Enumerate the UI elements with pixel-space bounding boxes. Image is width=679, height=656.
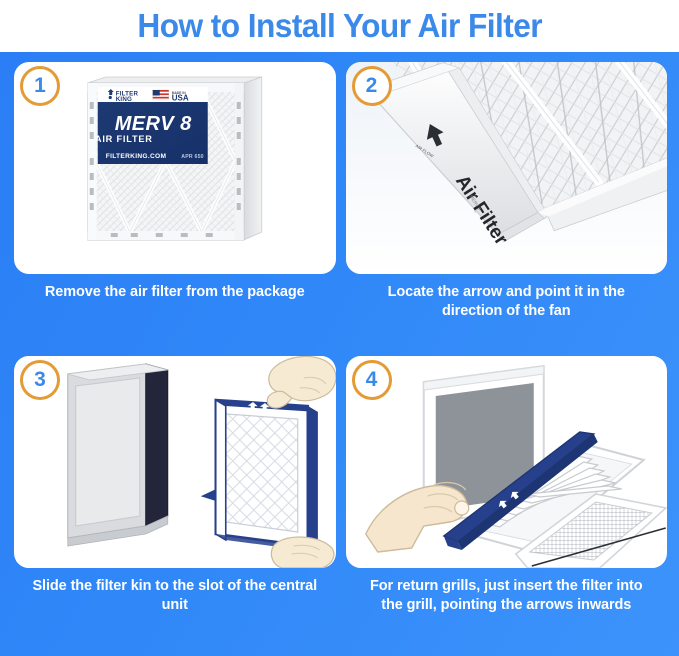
step-caption-4: For return grills, just insert the filte… — [346, 568, 668, 616]
svg-text:FILTERKING.COM: FILTERKING.COM — [106, 153, 167, 160]
step-1-image-card: FILTER KING MADE IN USA — [14, 62, 336, 274]
return-grill-insert-illustration — [346, 356, 668, 568]
filter-sliding-into-slot-illustration — [14, 356, 336, 568]
step-caption-2: Locate the arrow and point it in the dir… — [346, 274, 668, 322]
step-3-image-card: 3 — [14, 356, 336, 568]
central-unit-slot — [68, 364, 168, 546]
step-caption-1: Remove the air filter from the package — [33, 274, 317, 302]
svg-text:MERV 8: MERV 8 — [115, 113, 192, 135]
svg-text:APR 650: APR 650 — [181, 154, 203, 160]
step-number-badge-3: 3 — [20, 360, 60, 400]
step-4-image-card: 4 — [346, 356, 668, 568]
svg-text:AIR FILTER: AIR FILTER — [95, 134, 153, 144]
svg-text:USA: USA — [172, 94, 189, 103]
air-filter-product-photo: FILTER KING MADE IN USA — [14, 62, 336, 274]
step-card-4: 4 For return grills, just insert the fil… — [346, 356, 668, 650]
new-air-filter — [216, 400, 318, 552]
step-caption-3: Slide the filter kin to the slot of the … — [14, 568, 336, 616]
step-number-badge-4: 4 — [352, 360, 392, 400]
step-2-image-card: AIR FLOW Air Filter MERV 8 2 — [346, 62, 668, 274]
svg-text:KING: KING — [116, 96, 132, 103]
infographic-page: How to Install Your Air Filter — [0, 0, 679, 656]
step-number-badge-2: 2 — [352, 66, 392, 106]
air-filter-corner-with-arrow: AIR FLOW Air Filter MERV 8 — [346, 62, 668, 274]
header-bar: How to Install Your Air Filter — [0, 0, 679, 52]
step-number-badge-1: 1 — [20, 66, 60, 106]
step-card-3: 3 Slide the filter kin to the slot of th… — [14, 356, 336, 650]
step-card-1: FILTER KING MADE IN USA — [14, 62, 336, 356]
steps-grid: FILTER KING MADE IN USA — [0, 52, 679, 656]
page-title: How to Install Your Air Filter — [137, 7, 542, 45]
step-card-2: AIR FLOW Air Filter MERV 8 2 Locate the … — [346, 62, 668, 356]
